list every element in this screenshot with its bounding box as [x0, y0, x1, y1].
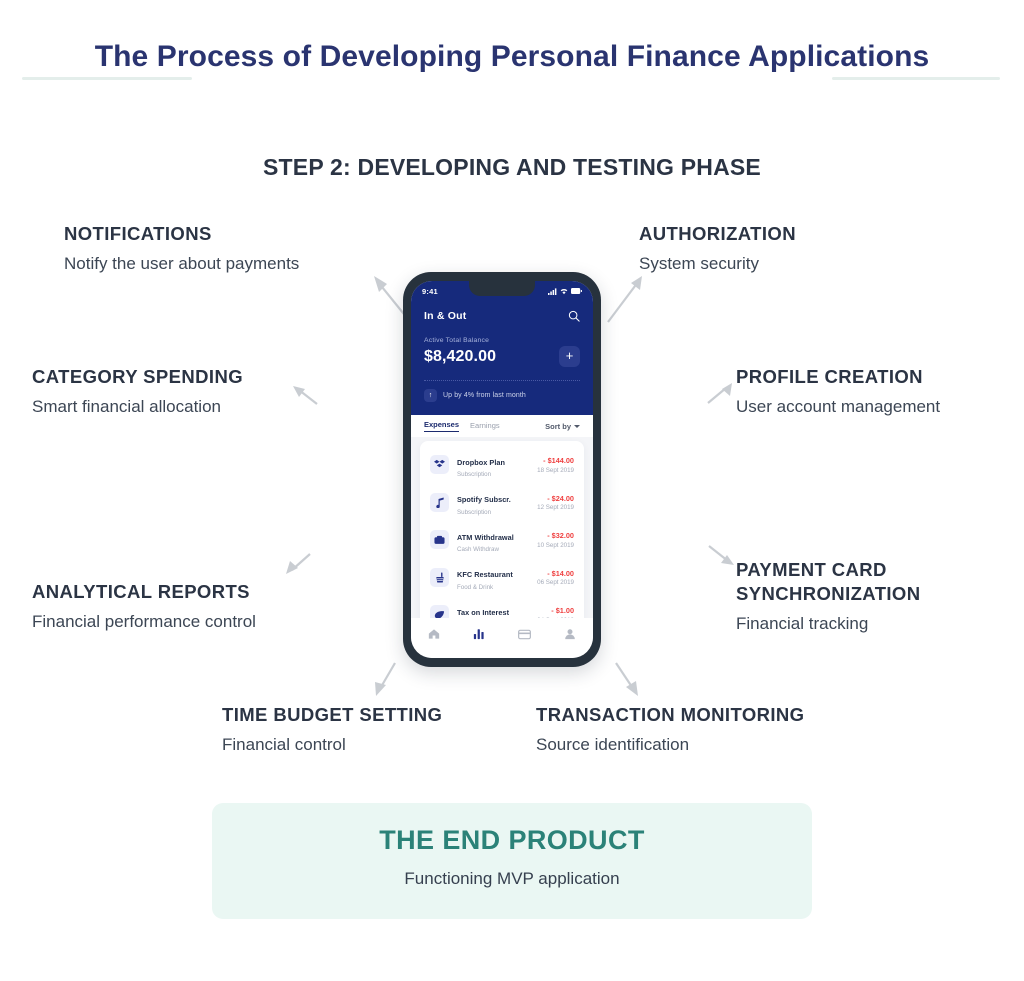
arrow-authorization-icon — [604, 272, 646, 326]
transaction-name: ATM Withdrawal — [457, 533, 514, 542]
phone-notch — [469, 281, 535, 296]
feature-analytical-reports: ANALYTICAL REPORTS Financial performance… — [32, 580, 256, 634]
feature-subtitle: User account management — [736, 395, 940, 419]
transaction-list: Dropbox Plan Subscription - $144.00 18 S… — [420, 441, 584, 639]
battery-icon — [571, 288, 582, 294]
table-row[interactable]: Spotify Subscr. Subscription - $24.00 12… — [420, 484, 584, 522]
feature-title: TRANSACTION MONITORING — [536, 703, 804, 727]
end-product-subtitle: Functioning MVP application — [212, 869, 812, 889]
cellular-signal-icon — [548, 288, 557, 295]
app-bar-title: In & Out — [424, 310, 466, 322]
arrow-analytical-reports-icon — [282, 550, 314, 578]
transaction-amount: - $14.00 — [537, 569, 574, 578]
chart-icon — [473, 628, 485, 640]
transaction-category: Subscription — [457, 509, 537, 516]
balance-row: $8,420.00 + — [424, 346, 580, 367]
transaction-meta: - $24.00 12 Sept 2019 — [537, 494, 574, 512]
transaction-amount: - $1.00 — [537, 606, 574, 615]
app-header: 9:41 — [411, 281, 593, 415]
transaction-name: Tax on Interest — [457, 608, 509, 617]
transaction-amount: - $24.00 — [537, 494, 574, 503]
transaction-meta: - $32.00 10 Sept 2019 — [537, 531, 574, 549]
status-icons — [548, 288, 582, 295]
chevron-down-icon — [574, 425, 580, 428]
feature-subtitle: Source identification — [536, 733, 804, 757]
feature-title: AUTHORIZATION — [639, 222, 796, 246]
app-content: Expenses Earnings Sort by Dropbox Plan — [411, 415, 593, 618]
sort-by-dropdown[interactable]: Sort by — [545, 422, 580, 431]
feature-time-budget-setting: TIME BUDGET SETTING Financial control — [222, 703, 442, 757]
tab-earnings[interactable]: Earnings — [470, 421, 500, 432]
dropbox-icon — [430, 455, 449, 474]
card-icon — [518, 629, 531, 640]
nav-stats-button[interactable] — [473, 628, 485, 640]
transaction-date: 10 Sept 2019 — [537, 542, 574, 549]
transaction-info: KFC Restaurant Food & Drink — [457, 564, 537, 591]
table-row[interactable]: ATM Withdrawal Cash Withdraw - $32.00 10… — [420, 521, 584, 559]
app-bar: In & Out — [411, 303, 593, 329]
music-note-icon — [430, 493, 449, 512]
transaction-info: Dropbox Plan Subscription — [457, 452, 537, 479]
table-row[interactable]: KFC Restaurant Food & Drink - $14.00 06 … — [420, 559, 584, 597]
feature-transaction-monitoring: TRANSACTION MONITORING Source identifica… — [536, 703, 804, 757]
transaction-date: 18 Sept 2019 — [537, 467, 574, 474]
wifi-icon — [560, 288, 568, 295]
transaction-info: Spotify Subscr. Subscription — [457, 489, 537, 516]
feature-title: NOTIFICATIONS — [64, 222, 299, 246]
home-icon — [428, 628, 440, 640]
end-product-panel: THE END PRODUCT Functioning MVP applicat… — [212, 803, 812, 919]
feature-title: TIME BUDGET SETTING — [222, 703, 442, 727]
balance-label: Active Total Balance — [424, 337, 580, 344]
title-rule-right — [832, 77, 1000, 80]
feature-title: ANALYTICAL REPORTS — [32, 580, 256, 604]
transaction-meta: - $144.00 18 Sept 2019 — [537, 456, 574, 474]
transaction-date: 12 Sept 2019 — [537, 504, 574, 511]
wallet-icon — [430, 530, 449, 549]
balance-block: Active Total Balance $8,420.00 + — [424, 337, 580, 367]
phone-screen: 9:41 — [411, 281, 593, 658]
add-transaction-button[interactable]: + — [559, 346, 580, 367]
balance-divider — [424, 380, 580, 381]
trend-row: ↑ Up by 4% from last month — [424, 389, 526, 402]
phone-mockup: 9:41 — [403, 272, 601, 667]
feature-authorization: AUTHORIZATION System security — [639, 222, 796, 276]
transaction-date: 06 Sept 2019 — [537, 579, 574, 586]
transaction-info: ATM Withdrawal Cash Withdraw — [457, 527, 537, 554]
transaction-amount: - $32.00 — [537, 531, 574, 540]
transaction-name: KFC Restaurant — [457, 570, 513, 579]
feature-profile-creation: PROFILE CREATION User account management — [736, 365, 940, 419]
arrow-time-budget-icon — [369, 660, 401, 700]
feature-subtitle: Financial performance control — [32, 610, 256, 634]
table-row[interactable]: Dropbox Plan Subscription - $144.00 18 S… — [420, 446, 584, 484]
title-rule-left — [22, 77, 192, 80]
fries-icon — [430, 568, 449, 587]
transaction-category: Food & Drink — [457, 584, 537, 591]
trend-text: Up by 4% from last month — [443, 392, 526, 399]
feature-title: CATEGORY SPENDING — [32, 365, 243, 389]
feature-category-spending: CATEGORY SPENDING Smart financial alloca… — [32, 365, 243, 419]
status-time: 9:41 — [422, 287, 438, 296]
bottom-nav — [411, 618, 593, 658]
transaction-meta: - $14.00 06 Sept 2019 — [537, 569, 574, 587]
tabs-row: Expenses Earnings Sort by — [411, 415, 593, 437]
feature-subtitle: Notify the user about payments — [64, 252, 299, 276]
nav-profile-button[interactable] — [564, 628, 576, 640]
feature-title: PAYMENT CARD SYNCHRONIZATION — [736, 558, 921, 606]
arrow-profile-creation-icon — [706, 380, 736, 406]
end-product-title: THE END PRODUCT — [212, 825, 812, 856]
transaction-amount: - $144.00 — [537, 456, 574, 465]
arrow-category-spending-icon — [289, 382, 319, 408]
transaction-category: Cash Withdraw — [457, 546, 537, 553]
arrow-transaction-monitoring-icon — [610, 660, 646, 700]
arrow-up-icon: ↑ — [424, 389, 437, 402]
page-title: The Process of Developing Personal Finan… — [0, 38, 1024, 76]
feature-title: PROFILE CREATION — [736, 365, 940, 389]
nav-home-button[interactable] — [428, 628, 440, 640]
feature-payment-card-synchronization: PAYMENT CARD SYNCHRONIZATION Financial t… — [736, 558, 921, 636]
home-indicator — [466, 659, 538, 663]
nav-cards-button[interactable] — [518, 629, 531, 640]
sort-by-label: Sort by — [545, 422, 571, 431]
transaction-name: Spotify Subscr. — [457, 495, 511, 504]
transaction-category: Subscription — [457, 471, 537, 478]
transaction-name: Dropbox Plan — [457, 458, 505, 467]
tab-expenses[interactable]: Expenses — [424, 420, 459, 432]
step-title: STEP 2: DEVELOPING AND TESTING PHASE — [0, 152, 1024, 182]
feature-subtitle: Financial control — [222, 733, 442, 757]
profile-icon — [564, 628, 576, 640]
balance-amount: $8,420.00 — [424, 348, 496, 366]
feature-subtitle: Smart financial allocation — [32, 395, 243, 419]
feature-notifications: NOTIFICATIONS Notify the user about paym… — [64, 222, 299, 276]
search-icon[interactable] — [568, 310, 580, 322]
feature-subtitle: System security — [639, 252, 796, 276]
arrow-payment-card-icon — [706, 543, 738, 569]
feature-subtitle: Financial tracking — [736, 612, 921, 636]
